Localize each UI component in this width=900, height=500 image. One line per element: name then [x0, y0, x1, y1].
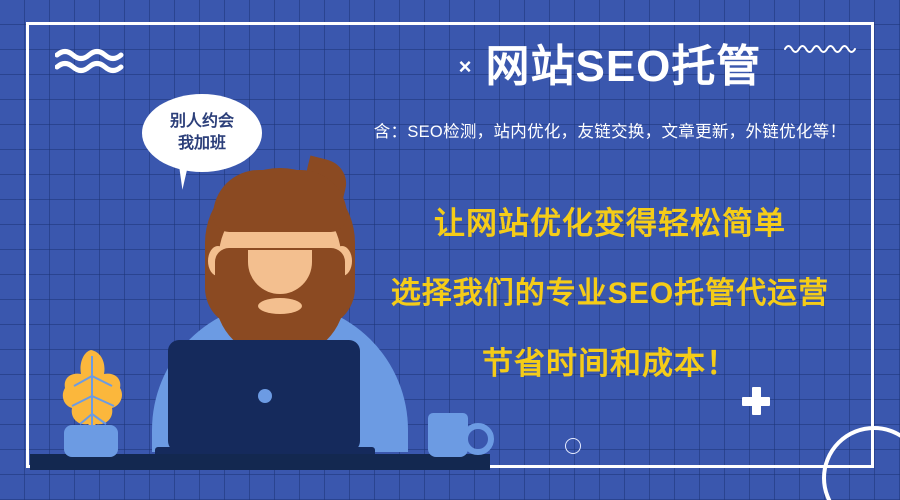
speech-bubble: 别人约会 我加班 — [142, 94, 262, 172]
speech-bubble-line-2: 我加班 — [178, 133, 226, 155]
small-circle-outline-icon — [565, 438, 581, 454]
double-wave-icon — [55, 48, 125, 74]
page-title: × 网站SEO托管 — [330, 45, 890, 89]
mug-body — [428, 413, 468, 457]
person-mouth — [258, 298, 302, 314]
speech-bubble-line-1: 别人约会 — [170, 111, 234, 133]
title-bullet-icon: × — [459, 56, 472, 78]
laptop-logo-dot — [258, 389, 272, 403]
seo-banner: × 网站SEO托管 含：SEO检测，站内优化，友链交换，文章更新，外链优化等！ … — [0, 0, 900, 500]
person-hair-front — [213, 170, 347, 232]
plant-leaves-icon — [58, 348, 128, 432]
slogan-line-1: 让网站优化变得轻松简单 — [330, 198, 890, 243]
page-subtitle: 含：SEO检测，站内优化，友链交换，文章更新，外链优化等！ — [330, 118, 890, 142]
plus-mark-icon — [742, 387, 770, 415]
title-text: 网站SEO托管 — [485, 45, 761, 89]
plant-pot — [64, 425, 118, 457]
slogan-line-2: 选择我们的专业SEO托管代运营 — [330, 268, 890, 312]
slogan-line-3: 节省时间和成本！ — [330, 338, 890, 383]
